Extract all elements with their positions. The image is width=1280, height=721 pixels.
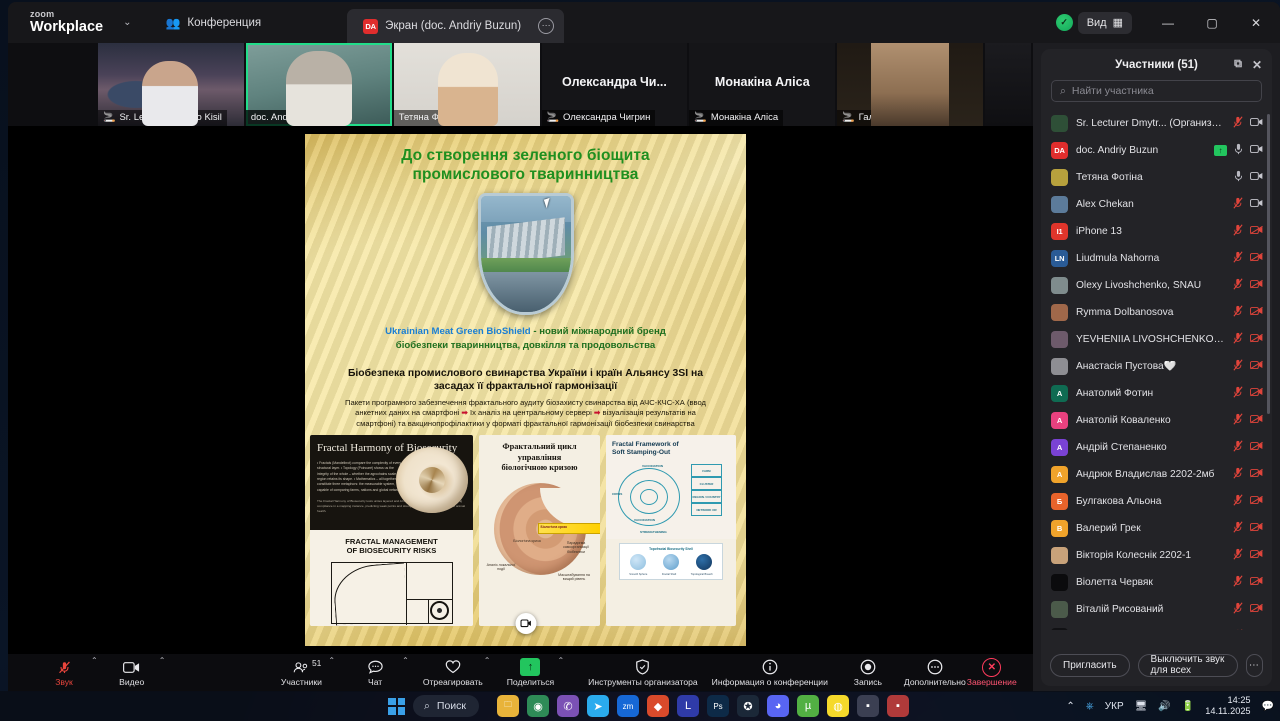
mic-off-icon[interactable]	[1233, 575, 1243, 590]
cam-off-glyph	[1250, 549, 1263, 559]
mic-off-icon[interactable]	[1233, 224, 1243, 239]
mic-off-glyph	[1233, 278, 1243, 290]
cam-off-glyph	[1250, 441, 1263, 451]
participants-panel-inner: Участники (51) ⧉ ✕ ⌕ Найти участника Sr.…	[1041, 49, 1272, 686]
participant-row[interactable]: Alex Chekan	[1041, 191, 1272, 218]
scale-network: NETWORK OR	[691, 503, 722, 516]
more-options-icon[interactable]: ⋯	[538, 18, 554, 34]
mic-off-glyph	[1233, 197, 1243, 209]
camera-on-icon[interactable]	[1250, 117, 1263, 130]
participant-name: Rymma Dolbanosova	[1076, 307, 1225, 318]
tab-meeting[interactable]: 👥 Конференция	[149, 2, 277, 43]
chevron-up-icon[interactable]: ⌃	[328, 656, 335, 665]
participant-row[interactable]: Sr. Lecturer Dmytr... (Организатор, я)	[1041, 110, 1272, 137]
taskbar-icon-file-explorer[interactable]: 🗀	[497, 695, 519, 717]
card-fractal-management: FRACTAL MANAGEMENT OF BIOSECURITY RISKS	[310, 530, 473, 626]
slide-subtitle-brand: Ukrainian Meat Green BioShield	[385, 326, 531, 337]
card-ssot-title: Fractal Framework of Soft Stamping-Out	[612, 441, 730, 457]
control-record-label: Запись	[854, 677, 882, 687]
avatar: В	[1051, 520, 1068, 537]
video-tile-name: Монакіна Аліса	[711, 112, 778, 123]
mic-off-icon[interactable]	[1233, 197, 1243, 212]
camera-on-icon[interactable]	[1250, 144, 1263, 157]
taskbar-icon-app-13[interactable]: ▪	[857, 695, 879, 717]
participant-status-icons: ↑	[1214, 143, 1263, 158]
cam-off-glyph	[1250, 414, 1263, 424]
cam-off-glyph	[1250, 306, 1263, 316]
tray-language-indicator[interactable]: УКР	[1105, 701, 1124, 712]
node-strengthening: STRENGTHENING	[640, 530, 667, 534]
mic-off-glyph	[1233, 116, 1243, 128]
participant-status-icons	[1233, 116, 1263, 131]
participant-row[interactable]: ААнатолий Фотин	[1041, 380, 1272, 407]
video-tile-name: Олександра Чигрин	[563, 112, 650, 123]
participant-status-icons	[1233, 521, 1263, 536]
tab-screen-share-label: Экран (doc. Andriy Buzun)	[385, 20, 521, 32]
camera-off-icon[interactable]	[1250, 279, 1263, 292]
close-button[interactable]: ✕	[1234, 2, 1278, 43]
shield-emblem-wrap	[305, 193, 746, 315]
avatar: А	[1051, 466, 1068, 483]
camera-glyph	[520, 619, 531, 628]
video-tile[interactable]: Олександра Чи...🚬Олександра Чигрин	[542, 43, 688, 126]
camera-off-icon[interactable]	[1250, 576, 1263, 589]
avatar	[1051, 115, 1068, 132]
participant-name: YEVHENIIA LIVOSHCHENKO, SNAU	[1076, 334, 1225, 345]
tab-screen-share[interactable]: DA Экран (doc. Andriy Buzun) ⋯	[347, 9, 564, 43]
participants-panel-footer: Пригласить Выключить звук для всех ⋯	[1041, 644, 1272, 686]
mic-off-icon[interactable]	[1233, 332, 1243, 347]
chevron-up-icon[interactable]: ⌃	[484, 656, 491, 665]
slide-heading-line2: засадах її фрактальної гармонізації	[313, 380, 738, 394]
maximize-button[interactable]: ▢	[1190, 2, 1234, 43]
tray-battery-icon[interactable]: 🔋	[1182, 701, 1194, 712]
mic-off-glyph	[1233, 305, 1243, 317]
participant-name: Анастасія Пустова🤍	[1076, 361, 1225, 372]
video-tile-name: Тетяна Фотіна	[399, 112, 461, 123]
camera-off-icon[interactable]	[1250, 522, 1263, 535]
participant-row[interactable]: LNLiudmula Nahorna	[1041, 245, 1272, 272]
share-up-icon: ↑	[520, 659, 540, 675]
taskbar-search-placeholder: Поиск	[437, 700, 466, 712]
camera-on-icon[interactable]	[1250, 198, 1263, 211]
card-ssot-line1: Fractal Framework of	[612, 441, 679, 448]
participant-status-icons	[1233, 440, 1263, 455]
control-video[interactable]: Видео	[106, 654, 158, 692]
participant-status-icons	[1233, 413, 1263, 428]
taskbar-icon-viber[interactable]: ✆	[557, 695, 579, 717]
participants-panel-header: Участники (51) ⧉ ✕	[1041, 49, 1272, 80]
control-host-tools-label: Инструменты организатора	[588, 677, 698, 687]
cam-off-glyph	[1250, 576, 1263, 586]
camera-off-icon[interactable]	[1250, 333, 1263, 346]
mic-off-icon[interactable]	[1233, 413, 1243, 428]
record-icon	[860, 659, 876, 675]
control-react[interactable]: Отреагировать	[423, 654, 483, 692]
participant-status-icons	[1233, 224, 1263, 239]
video-tile[interactable]: Тетяна Фотіна	[394, 43, 540, 126]
search-participant-input[interactable]: ⌕ Найти участника	[1051, 80, 1262, 102]
chevron-up-icon[interactable]: ⌃	[557, 656, 564, 665]
participant-row[interactable]: Віолетта Червяк	[1041, 569, 1272, 596]
end-meeting-icon: ✕	[982, 659, 1001, 675]
cam-off-glyph	[1250, 279, 1263, 289]
taskbar-tray: ⌃ ⎈ УКР 🖥 🔊 🔋 14:25 14.11.2025 💬	[1066, 695, 1274, 718]
card-fractal-harmony-top: Fractal Harmony of Biosecurity • Fractal…	[310, 435, 473, 530]
zoom-meeting-screen: zoom Workplace ⌄ 👥 Конференция DA Экран …	[0, 0, 1280, 721]
taskbar-icon-utorrent[interactable]: µ	[797, 695, 819, 717]
mic-off-glyph	[1233, 629, 1243, 630]
participant-name: Булгакова Альона	[1076, 496, 1225, 507]
cam-on-glyph	[1250, 171, 1263, 181]
participant-status-icons	[1233, 332, 1263, 347]
tray-mic-icon[interactable]: ⎈	[1086, 701, 1094, 712]
video-tile[interactable]: 🚬Галина Ребенко	[837, 43, 983, 126]
video-tile-name: Галина Ребенко	[859, 112, 929, 123]
control-host-tools[interactable]: Инструменты организатора	[588, 654, 698, 692]
mic-off-icon[interactable]	[1233, 305, 1243, 320]
popout-icon[interactable]: ⧉	[1234, 58, 1242, 71]
participant-row[interactable]: ББулгакова Альона	[1041, 488, 1272, 515]
chevron-down-icon[interactable]: ⌄	[123, 17, 131, 28]
mic-off-icon[interactable]	[1233, 116, 1243, 131]
scale-cluster: CLUSTER	[691, 477, 722, 490]
camera-off-icon[interactable]	[1250, 549, 1263, 562]
card-ssot-line2: Soft Stamping-Out	[612, 449, 670, 456]
slide-subtitle: Ukrainian Meat Green BioShield - новий м…	[305, 325, 746, 353]
participant-row[interactable]: YEVHENIIA LIVOSHCHENKO, SNAU	[1041, 326, 1272, 353]
participant-name: Валерий Грек	[1076, 523, 1225, 534]
participant-row[interactable]: ААндрій Степаненко	[1041, 434, 1272, 461]
bioshield-emblem-icon	[478, 193, 574, 315]
camera-off-icon[interactable]	[1250, 252, 1263, 265]
participant-name: Анатолий Фотин	[1076, 388, 1225, 399]
control-audio[interactable]: Звук	[38, 654, 90, 692]
participant-status-icons	[1233, 386, 1263, 401]
teal-spiral-diagram: VACCINATION CRISIS VACCINATION STRENGTHE…	[612, 460, 724, 536]
taskbar-icon-mail[interactable]: ◍	[827, 695, 849, 717]
control-react-label: Отреагировать	[423, 677, 483, 687]
heart-icon	[445, 659, 461, 675]
highlight-bar-label: Біологічна криза	[539, 524, 601, 530]
mic-off-icon[interactable]	[1233, 521, 1243, 536]
mic-off-glyph	[1233, 440, 1243, 452]
arrow-right-icon-2: ➡	[594, 408, 600, 417]
video-tile-namebar: 🚬Галина Ребенко	[837, 110, 934, 126]
slide-body-line2: анкетних даних на смартфоні ➡ їх аналіз …	[311, 408, 740, 418]
participant-row[interactable]: Вікторія Колеснік 2202-1	[1041, 542, 1272, 569]
video-filmstrip: 🚬Sr. Lecturer Dmytro Kisildoc. Andriy Bu…	[8, 43, 1033, 126]
mic-on-glyph	[1234, 170, 1243, 182]
participant-name: Sr. Lecturer Dmytr... (Организатор, я)	[1076, 118, 1225, 129]
participant-row[interactable]: Тетяна Фотіна	[1041, 164, 1272, 191]
mini-label-2: Fractal Shell	[662, 573, 676, 576]
tray-chevron-icon[interactable]: ⌃	[1066, 701, 1074, 712]
participant-row[interactable]: Влада Назаренко	[1041, 623, 1272, 630]
avatar: А	[1051, 412, 1068, 429]
taskbar-icon-antivirus[interactable]: ◆	[647, 695, 669, 717]
camera-off-icon[interactable]	[1250, 603, 1263, 616]
scale-farm: FARM	[691, 464, 722, 477]
chevron-up-icon[interactable]: ⌃	[91, 656, 98, 665]
taskbar-app-icons: 🗀◉✆➤zm◆LPs✪◕µ◍▪▪	[497, 695, 909, 717]
smooth-sphere-icon	[630, 554, 646, 570]
taskbar-icon-app-14[interactable]: ▪	[887, 695, 909, 717]
mic-off-icon[interactable]	[1233, 251, 1243, 266]
mic-on-icon[interactable]	[1234, 170, 1243, 185]
taskbar-icon-photoshop[interactable]: Ps	[707, 695, 729, 717]
mic-off-glyph	[1233, 413, 1243, 425]
taskbar-icon-discord[interactable]: ◕	[767, 695, 789, 717]
avatar	[1051, 277, 1068, 294]
participant-row[interactable]: DAdoc. Andriy Buzun↑	[1041, 137, 1272, 164]
card-soft-stamping-box: Fractal Framework of Soft Stamping-Out V…	[606, 435, 736, 539]
slide-title: До створення зеленого біощита промислово…	[305, 146, 746, 185]
participant-status-icons	[1233, 359, 1263, 374]
ellipsis-icon	[927, 659, 943, 675]
cam-off-glyph	[1250, 495, 1263, 505]
participant-row[interactable]: Olexy Livoshchenko, SNAU	[1041, 272, 1272, 299]
mute-all-button[interactable]: Выключить звук для всех	[1138, 654, 1238, 677]
participant-status-icons	[1233, 629, 1263, 630]
chevron-up-icon[interactable]: ⌃	[402, 656, 409, 665]
control-meeting-info[interactable]: Информация о конференции	[712, 654, 828, 692]
zoom-window: zoom Workplace ⌄ 👥 Конференция DA Экран …	[8, 2, 1280, 692]
mic-off-glyph	[1233, 359, 1243, 371]
mini-label-3: Topological Breach	[691, 573, 713, 576]
slide-subtitle-ua1: новий міжнародний бренд	[539, 326, 666, 337]
minimize-button[interactable]: —	[1146, 2, 1190, 43]
participant-status-icons	[1233, 305, 1263, 320]
mic-off-icon[interactable]	[1233, 467, 1243, 482]
fibonacci-diagram	[331, 562, 453, 624]
windows-taskbar: ⌕ Поиск 🗀◉✆➤zm◆LPs✪◕µ◍▪▪ ⌃ ⎈ УКР 🖥 🔊 🔋 1…	[0, 691, 1280, 721]
control-end-meeting-label: Завершение	[967, 677, 1017, 687]
participant-row[interactable]: I1iPhone 13	[1041, 218, 1272, 245]
control-end-meeting[interactable]: ✕Завершение	[966, 654, 1018, 692]
mini-caption: Topofractal Biosecurity Shell	[622, 547, 720, 551]
cam-off-glyph	[1250, 603, 1263, 613]
mic-off-icon[interactable]	[1233, 548, 1243, 563]
node-crisis: CRISIS	[612, 492, 622, 496]
participant-row[interactable]: ААнатолій Коваленко	[1041, 407, 1272, 434]
slide-title-line2: промислового тваринництва	[317, 165, 734, 184]
meeting-controls-bar: Звук⌃Видео⌃51Участники⌃Чат⌃Отреагировать…	[8, 654, 1033, 692]
video-tile[interactable]: doc. Andriy Buzun	[246, 43, 392, 126]
clock-date: 14.11.2025	[1205, 706, 1250, 718]
mic-off-glyph	[1233, 386, 1243, 398]
taskbar-icon-steam[interactable]: ✪	[737, 695, 759, 717]
video-tile-partial[interactable]	[985, 43, 1031, 126]
participants-panel-title: Участники (51)	[1115, 59, 1198, 71]
fractal-shell-icon	[663, 554, 679, 570]
camera-off-icon[interactable]	[1250, 441, 1263, 454]
cam-on-glyph	[1250, 117, 1263, 127]
node-vaccination-top: VACCINATION	[642, 464, 663, 468]
participant-row[interactable]: ААндрюк Владислав 2202-2мб	[1041, 461, 1272, 488]
avatar	[1051, 574, 1068, 591]
card-crisis-line2: управління	[518, 453, 561, 462]
avatar	[1051, 169, 1068, 186]
avatar	[1051, 628, 1068, 630]
participant-row[interactable]: Віталій Рисований	[1041, 596, 1272, 623]
topofractal-shell-mini: Topofractal Biosecurity Shell Smooth Sph…	[619, 543, 723, 580]
participants-search-wrap: ⌕ Найти участника	[1041, 80, 1272, 110]
tray-notification-icon[interactable]: 💬	[1262, 701, 1274, 712]
card-crisis-title: Фрактальний цикл управління біологічною …	[484, 442, 595, 474]
mic-off-icon[interactable]	[1233, 386, 1243, 401]
clock-time: 14:25	[1205, 695, 1250, 707]
topological-breach-icon	[696, 554, 712, 570]
cam-off-glyph	[1250, 360, 1263, 370]
slide-subtitle-ua2: біобезпеки тваринництва, довкілля та про…	[327, 339, 724, 353]
mic-on-icon[interactable]	[1234, 143, 1243, 158]
taskbar-icon-telegram[interactable]: ➤	[587, 695, 609, 717]
mic-off-icon[interactable]	[1233, 278, 1243, 293]
windows-start-icon[interactable]	[388, 698, 405, 715]
label-local-analysis: Аналіз локальної події	[486, 563, 516, 573]
card-fm-line2: OF BIOSECURITY RISKS	[347, 546, 437, 555]
camera-icon	[123, 659, 140, 675]
mic-muted-icon: 🚬	[547, 112, 559, 123]
avatar	[1051, 196, 1068, 213]
control-share-label: Поделиться	[507, 677, 554, 687]
mic-off-icon	[57, 659, 72, 675]
participant-name: Андрюк Владислав 2202-2мб	[1076, 469, 1225, 480]
video-tile[interactable]: 🚬Sr. Lecturer Dmytro Kisil	[98, 43, 244, 126]
mic-off-icon[interactable]	[1233, 629, 1243, 630]
mic-off-glyph	[1233, 602, 1243, 614]
video-tile-namebar: 🚬Олександра Чигрин	[542, 110, 656, 126]
control-participants[interactable]: 51Участники	[275, 654, 327, 692]
participant-status-icons	[1233, 278, 1263, 293]
titlebar-right: ✓ Вид ▦ — ▢ ✕	[1056, 2, 1280, 43]
camera-off-icon[interactable]	[1250, 306, 1263, 319]
avatar-badge: DA	[363, 19, 378, 34]
close-panel-icon[interactable]: ✕	[1252, 58, 1262, 72]
participants-more-button[interactable]: ⋯	[1246, 654, 1263, 677]
participant-row[interactable]: Анастасія Пустова🤍	[1041, 353, 1272, 380]
taskbar-clock[interactable]: 14:25 14.11.2025	[1205, 695, 1250, 718]
avatar	[1051, 601, 1068, 618]
mic-off-glyph	[1233, 494, 1243, 506]
control-chat[interactable]: Чат	[349, 654, 401, 692]
taskbar-search[interactable]: ⌕ Поиск	[413, 695, 479, 717]
avatar	[1051, 547, 1068, 564]
participant-name: Анатолій Коваленко	[1076, 415, 1225, 426]
control-share[interactable]: ↑Поделиться	[504, 654, 556, 692]
camera-off-icon[interactable]	[1250, 387, 1263, 400]
participant-status-icons	[1233, 602, 1263, 617]
screen-share-icon: ↑	[1214, 145, 1227, 156]
layout-grid-icon: ▦	[1113, 16, 1123, 29]
camera-off-icon[interactable]	[1250, 225, 1263, 238]
nautilus-shell-photo	[396, 447, 468, 513]
participants-panel: Участники (51) ⧉ ✕ ⌕ Найти участника Sr.…	[1033, 43, 1280, 692]
mic-off-glyph	[1233, 548, 1243, 560]
participants-scrollbar[interactable]	[1267, 114, 1270, 414]
tray-display-icon[interactable]: 🖥	[1135, 701, 1148, 712]
label-self-org-paradigm: Парадигма самоорганізації біобезпеки	[557, 541, 595, 556]
mic-off-icon[interactable]	[1233, 602, 1243, 617]
camera-off-icon[interactable]	[1250, 414, 1263, 427]
participant-name: Тетяна Фотіна	[1076, 172, 1226, 183]
card-crisis-line1: Фрактальний цикл	[502, 442, 576, 451]
card-fractal-management-title: FRACTAL MANAGEMENT OF BIOSECURITY RISKS	[318, 537, 465, 556]
taskbar-icon-google-chrome[interactable]: ◉	[527, 695, 549, 717]
participant-name: Olexy Livoshchenko, SNAU	[1076, 280, 1225, 291]
taskbar-icon-zoom[interactable]: zm	[617, 695, 639, 717]
mic-off-glyph	[1233, 251, 1243, 263]
tray-volume-icon[interactable]: 🔊	[1158, 701, 1170, 712]
mic-off-glyph	[1233, 575, 1243, 587]
control-more[interactable]: Дополнительно	[904, 654, 966, 692]
participant-status-icons	[1233, 548, 1263, 563]
mic-off-glyph	[1233, 224, 1243, 236]
scale-region: REGION / COUNTRY	[691, 490, 722, 503]
cam-off-glyph	[1250, 387, 1263, 397]
encryption-shield-icon[interactable]: ✓	[1056, 14, 1073, 31]
slide-video-indicator-icon[interactable]	[515, 613, 536, 634]
share-green-box: ↑	[520, 658, 540, 676]
cam-off-glyph	[1250, 225, 1263, 235]
participants-list[interactable]: Sr. Lecturer Dmytr... (Организатор, я)DA…	[1041, 110, 1272, 630]
camera-off-icon[interactable]	[1250, 360, 1263, 373]
invite-button[interactable]: Пригласить	[1050, 654, 1130, 677]
participant-name: Андрій Степаненко	[1076, 442, 1225, 453]
video-tile[interactable]: Монакіна Аліса🚬Монакіна Аліса	[689, 43, 835, 126]
biohazard-icon	[430, 601, 449, 620]
camera-off-icon[interactable]	[1250, 468, 1263, 481]
taskbar-center: ⌕ Поиск 🗀◉✆➤zm◆LPs✪◕µ◍▪▪	[388, 695, 909, 717]
participant-name: iPhone 13	[1076, 226, 1225, 237]
participant-status-icons	[1234, 170, 1263, 185]
card-fractal-harmony: Fractal Harmony of Biosecurity • Fractal…	[310, 435, 473, 626]
people-icon: 👥	[165, 16, 180, 30]
zoom-logo-top: zoom	[30, 10, 103, 19]
label-scaling-up: Масштабування на вищий рівень	[555, 573, 593, 583]
mic-off-icon[interactable]	[1233, 440, 1243, 455]
participant-row[interactable]: ВВалерий Грек	[1041, 515, 1272, 542]
view-button[interactable]: Вид ▦	[1078, 12, 1132, 34]
mic-muted-icon: 🚬	[103, 112, 115, 123]
avatar: I1	[1051, 223, 1068, 240]
cam-off-glyph	[1250, 252, 1263, 262]
cam-off-glyph	[1250, 468, 1263, 478]
shared-screen-frame[interactable]: До створення зеленого біощита промислово…	[52, 126, 989, 654]
mic-off-icon[interactable]	[1233, 494, 1243, 509]
control-record[interactable]: Запись	[842, 654, 894, 692]
taskbar-icon-lightshot[interactable]: L	[677, 695, 699, 717]
camera-on-icon[interactable]	[1250, 171, 1263, 184]
participant-name: Віталій Рисований	[1076, 604, 1225, 615]
avatar: А	[1051, 439, 1068, 456]
mic-on-glyph	[1234, 143, 1243, 155]
control-chat-label: Чат	[368, 677, 382, 687]
participant-status-icons	[1233, 251, 1263, 266]
mic-off-icon[interactable]	[1233, 359, 1243, 374]
chevron-up-icon[interactable]: ⌃	[159, 656, 166, 665]
mini-label-1: Smooth Sphere	[629, 573, 647, 576]
participant-row[interactable]: Rymma Dolbanosova	[1041, 299, 1272, 326]
zoom-logo: zoom Workplace	[30, 10, 103, 35]
highlight-bar: Біологічна криза	[538, 523, 601, 534]
shield-icon	[635, 659, 650, 675]
avatar	[1051, 331, 1068, 348]
control-participants-label: Участники	[281, 677, 322, 687]
camera-off-icon[interactable]	[1250, 495, 1263, 508]
slide-body-line1: Пакети програмного забезпечення фракталь…	[311, 398, 740, 408]
